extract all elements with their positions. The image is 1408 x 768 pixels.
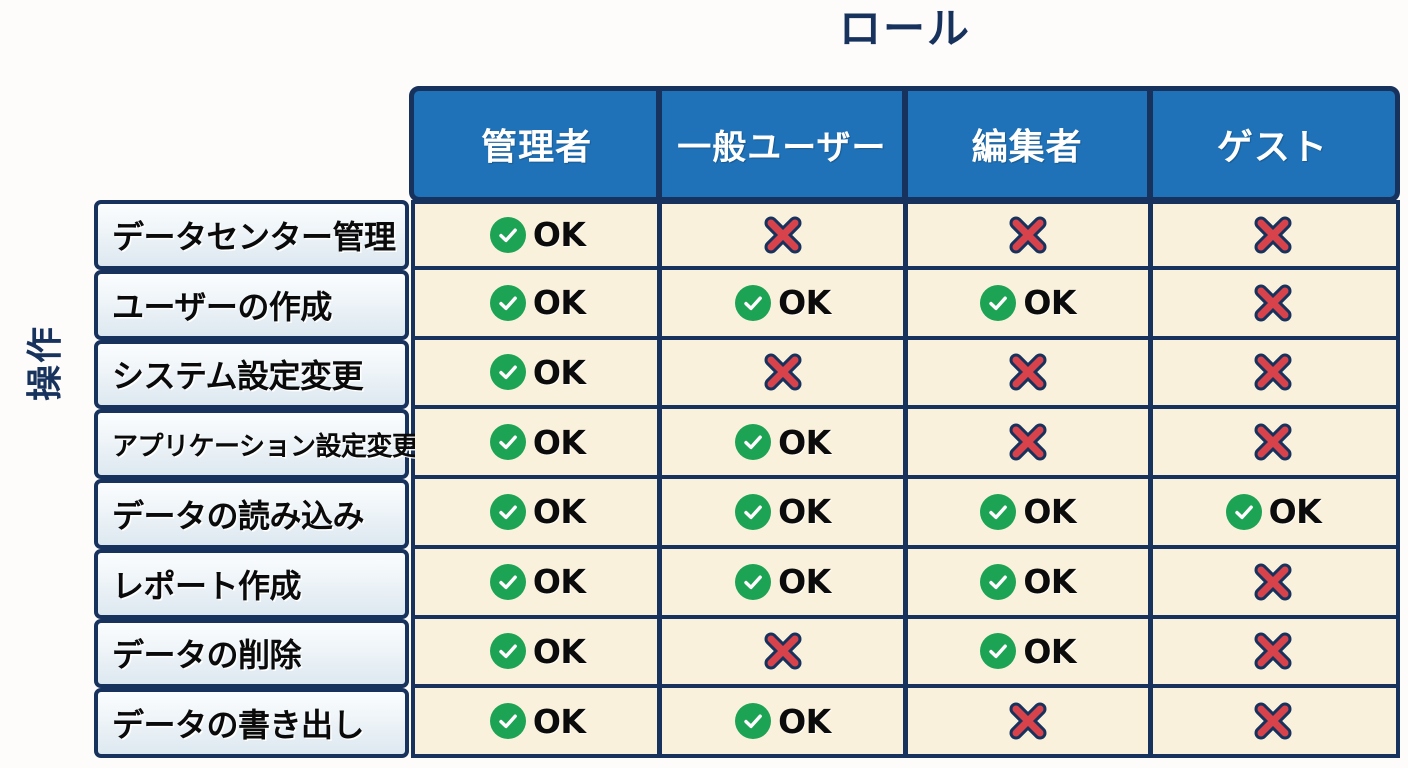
permission-allowed: OK	[980, 562, 1076, 601]
permission-cell-r8-c1: OK	[415, 688, 660, 754]
table-row: レポート作成OKOKOK	[94, 549, 1400, 619]
column-header-3: 編集者	[905, 91, 1150, 197]
check-circle-icon	[980, 633, 1016, 669]
row-cells: OK	[411, 200, 1400, 270]
permission-cell-r2-c3: OK	[906, 270, 1151, 336]
check-circle-icon	[490, 424, 526, 460]
permission-allowed: OK	[735, 492, 831, 531]
cross-mark-icon	[1006, 213, 1050, 257]
permission-cell-r5-c1: OK	[415, 479, 660, 545]
row-cells: OKOKOKOK	[411, 479, 1400, 549]
check-circle-icon	[490, 285, 526, 321]
ok-label: OK	[533, 632, 586, 671]
table-header-row: 管理者一般ユーザー編集者ゲスト	[409, 86, 1400, 202]
permission-cell-r6-c4	[1151, 549, 1396, 615]
cross-mark-icon	[1006, 420, 1050, 464]
row-label-text: ユーザーの作成	[112, 282, 332, 328]
permission-cell-r4-c4	[1151, 409, 1396, 475]
permission-cell-r2-c1: OK	[415, 270, 660, 336]
row-label-cell: データの削除	[94, 619, 409, 689]
row-label-cell: システム設定変更	[94, 340, 409, 410]
cross-mark-icon	[1251, 629, 1295, 673]
column-header-4: ゲスト	[1150, 91, 1395, 197]
row-cells: OKOK	[411, 409, 1400, 479]
ok-label: OK	[778, 702, 831, 741]
ok-label: OK	[778, 283, 831, 322]
table-body: データセンター管理OKユーザーの作成OKOKOKシステム設定変更OKアプリケーシ…	[94, 200, 1400, 758]
ok-label: OK	[533, 492, 586, 531]
check-circle-icon	[980, 564, 1016, 600]
permission-allowed: OK	[735, 423, 831, 462]
permission-cell-r3-c4	[1151, 340, 1396, 406]
ok-label: OK	[1023, 283, 1076, 322]
check-circle-icon	[1226, 494, 1262, 530]
table-row: データの読み込みOKOKOKOK	[94, 479, 1400, 549]
permission-allowed: OK	[735, 702, 831, 741]
permission-denied	[1251, 420, 1295, 464]
table-row: データの削除OKOK	[94, 619, 1400, 689]
row-label-text: システム設定変更	[112, 351, 363, 397]
ok-label: OK	[533, 353, 586, 392]
check-circle-icon	[490, 354, 526, 390]
permission-cell-r5-c3: OK	[906, 479, 1151, 545]
cross-mark-icon	[761, 629, 805, 673]
permission-denied	[1006, 350, 1050, 394]
cross-mark-icon	[1251, 213, 1295, 257]
column-axis-title: ロール	[410, 8, 1400, 50]
row-cells: OK	[411, 340, 1400, 410]
row-cells: OKOKOK	[411, 549, 1400, 619]
permission-allowed: OK	[490, 423, 586, 462]
permission-denied	[1251, 281, 1295, 325]
permission-allowed: OK	[980, 632, 1076, 671]
check-circle-icon	[735, 564, 771, 600]
permission-cell-r3-c3	[906, 340, 1151, 406]
ok-label: OK	[533, 702, 586, 741]
ok-label: OK	[533, 215, 586, 254]
row-label-cell: レポート作成	[94, 549, 409, 619]
permission-denied	[1251, 560, 1295, 604]
permission-denied	[761, 350, 805, 394]
permission-cell-r8-c2: OK	[660, 688, 905, 754]
cross-mark-icon	[1251, 350, 1295, 394]
column-header-2: 一般ユーザー	[659, 91, 904, 197]
permission-denied	[761, 629, 805, 673]
row-label-cell: ユーザーの作成	[94, 270, 409, 340]
permission-allowed: OK	[490, 492, 586, 531]
ok-label: OK	[533, 423, 586, 462]
permission-allowed: OK	[735, 562, 831, 601]
check-circle-icon	[490, 633, 526, 669]
permission-cell-r4-c1: OK	[415, 409, 660, 475]
ok-label: OK	[1023, 492, 1076, 531]
ok-label: OK	[778, 562, 831, 601]
permission-cell-r1-c1: OK	[415, 204, 660, 266]
permission-cell-r7-c1: OK	[415, 619, 660, 685]
row-label-text: データの削除	[112, 630, 301, 676]
permission-allowed: OK	[490, 283, 586, 322]
permission-cell-r7-c4	[1151, 619, 1396, 685]
cross-mark-icon	[761, 213, 805, 257]
permission-denied	[1251, 699, 1295, 743]
permission-cell-r2-c4	[1151, 270, 1396, 336]
cross-mark-icon	[1251, 420, 1295, 464]
check-circle-icon	[735, 703, 771, 739]
row-label-text: アプリケーション設定変更	[112, 426, 417, 463]
permission-cell-r8-c3	[906, 688, 1151, 754]
permission-cell-r7-c2	[660, 619, 905, 685]
permission-denied	[1006, 420, 1050, 464]
cross-mark-icon	[1251, 699, 1295, 743]
ok-label: OK	[533, 283, 586, 322]
permission-cell-r6-c3: OK	[906, 549, 1151, 615]
ok-label: OK	[778, 423, 831, 462]
permission-allowed: OK	[1226, 492, 1322, 531]
ok-label: OK	[1269, 492, 1322, 531]
permission-cell-r4-c3	[906, 409, 1151, 475]
permission-cell-r1-c2	[660, 204, 905, 266]
permission-cell-r3-c1: OK	[415, 340, 660, 406]
row-label-cell: データの読み込み	[94, 479, 409, 549]
check-circle-icon	[735, 494, 771, 530]
table-row: データの書き出しOKOK	[94, 688, 1400, 758]
check-circle-icon	[735, 285, 771, 321]
permission-allowed: OK	[980, 492, 1076, 531]
permission-cell-r5-c2: OK	[660, 479, 905, 545]
permission-allowed: OK	[490, 353, 586, 392]
table-row: ユーザーの作成OKOKOK	[94, 270, 1400, 340]
permission-allowed: OK	[490, 632, 586, 671]
permission-matrix-figure: ロール 操作 管理者一般ユーザー編集者ゲスト データセンター管理OKユーザーの作…	[0, 0, 1408, 768]
permission-cell-r5-c4: OK	[1151, 479, 1396, 545]
permission-cell-r7-c3: OK	[906, 619, 1151, 685]
column-header-1: 管理者	[414, 91, 659, 197]
cross-mark-icon	[1251, 281, 1295, 325]
permission-denied	[1251, 629, 1295, 673]
permission-allowed: OK	[735, 283, 831, 322]
ok-label: OK	[1023, 562, 1076, 601]
check-circle-icon	[490, 494, 526, 530]
check-circle-icon	[490, 703, 526, 739]
row-label-cell: アプリケーション設定変更	[94, 409, 409, 479]
check-circle-icon	[735, 424, 771, 460]
permission-denied	[1251, 350, 1295, 394]
permission-cell-r4-c2: OK	[660, 409, 905, 475]
row-axis-title: 操作	[28, 293, 64, 433]
cross-mark-icon	[761, 350, 805, 394]
ok-label: OK	[533, 562, 586, 601]
permission-cell-r1-c4	[1151, 204, 1396, 266]
row-label-cell: データセンター管理	[94, 200, 409, 270]
check-circle-icon	[980, 494, 1016, 530]
permission-allowed: OK	[490, 562, 586, 601]
permission-cell-r8-c4	[1151, 688, 1396, 754]
cross-mark-icon	[1251, 560, 1295, 604]
permission-denied	[1251, 213, 1295, 257]
row-label-text: データセンター管理	[112, 212, 396, 258]
permission-denied	[1006, 213, 1050, 257]
permission-cell-r1-c3	[906, 204, 1151, 266]
row-cells: OKOK	[411, 688, 1400, 758]
row-cells: OKOK	[411, 619, 1400, 689]
row-cells: OKOKOK	[411, 270, 1400, 340]
permission-cell-r2-c2: OK	[660, 270, 905, 336]
ok-label: OK	[1023, 632, 1076, 671]
permission-cell-r6-c1: OK	[415, 549, 660, 615]
row-label-text: レポート作成	[112, 561, 301, 607]
permission-allowed: OK	[490, 702, 586, 741]
row-label-cell: データの書き出し	[94, 688, 409, 758]
permission-cell-r3-c2	[660, 340, 905, 406]
permission-cell-r6-c2: OK	[660, 549, 905, 615]
check-circle-icon	[490, 217, 526, 253]
table-row: システム設定変更OK	[94, 340, 1400, 410]
permission-denied	[1006, 699, 1050, 743]
cross-mark-icon	[1006, 350, 1050, 394]
permission-allowed: OK	[490, 215, 586, 254]
table-row: アプリケーション設定変更OKOK	[94, 409, 1400, 479]
cross-mark-icon	[1006, 699, 1050, 743]
table-row: データセンター管理OK	[94, 200, 1400, 270]
check-circle-icon	[490, 564, 526, 600]
permission-denied	[761, 213, 805, 257]
check-circle-icon	[980, 285, 1016, 321]
row-label-text: データの読み込み	[112, 491, 364, 537]
permission-allowed: OK	[980, 283, 1076, 322]
ok-label: OK	[778, 492, 831, 531]
row-label-text: データの書き出し	[112, 700, 364, 746]
